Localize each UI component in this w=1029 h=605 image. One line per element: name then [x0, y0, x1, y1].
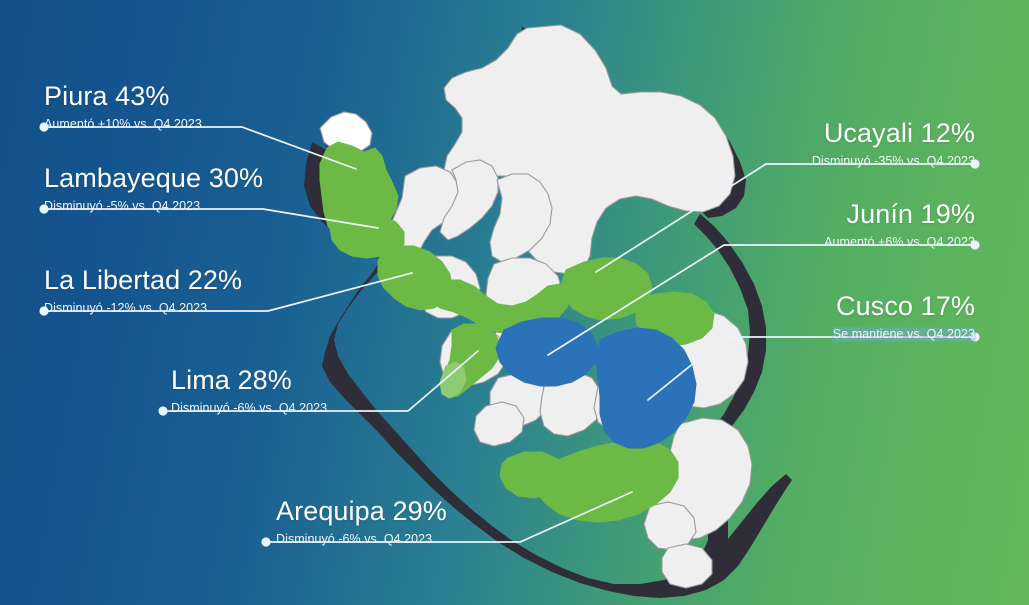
callout-junin-title: Junín 19% — [824, 200, 975, 229]
callout-arequipa-subtitle: Disminuyó -6% vs. Q4 2023 — [276, 533, 447, 547]
callout-lambayeque-title: Lambayeque 30% — [44, 164, 263, 193]
callout-cusco-subtitle: Se mantiene vs. Q4 2023 — [833, 328, 975, 342]
callout-lima-subtitle: Disminuyó -6% vs. Q4 2023 — [171, 402, 327, 416]
callout-ucayali[interactable]: Ucayali 12% Disminuyó -35% vs. Q4 2023 — [812, 119, 975, 168]
callout-la-libertad[interactable]: La Libertad 22% Disminuyó -12% vs. Q4 20… — [44, 266, 242, 315]
callout-lambayeque-subtitle: Disminuyó -5% vs. Q4 2023 — [44, 200, 263, 214]
callout-lima[interactable]: Lima 28% Disminuyó -6% vs. Q4 2023 — [171, 366, 327, 415]
callout-arequipa[interactable]: Arequipa 29% Disminuyó -6% vs. Q4 2023 — [276, 497, 447, 546]
connector-cusco — [648, 332, 980, 400]
infographic-stage: Piura 43% Aumentó +10% vs. Q4 2023 Lamba… — [0, 0, 1029, 605]
callout-piura-title: Piura 43% — [44, 82, 202, 111]
callout-piura-subtitle: Aumentó +10% vs. Q4 2023 — [44, 118, 202, 132]
callout-arequipa-title: Arequipa 29% — [276, 497, 447, 526]
callout-lambayeque[interactable]: Lambayeque 30% Disminuyó -5% vs. Q4 2023 — [44, 164, 263, 213]
callout-ucayali-title: Ucayali 12% — [812, 119, 975, 148]
callout-junin-subtitle: Aumentó +6% vs. Q4 2023 — [824, 236, 975, 250]
callout-piura[interactable]: Piura 43% Aumentó +10% vs. Q4 2023 — [44, 82, 202, 131]
callout-cusco-title: Cusco 17% — [833, 292, 975, 321]
callout-la-libertad-subtitle: Disminuyó -12% vs. Q4 2023 — [44, 302, 242, 316]
callout-ucayali-subtitle: Disminuyó -35% vs. Q4 2023 — [812, 155, 975, 169]
callout-lima-title: Lima 28% — [171, 366, 327, 395]
callout-junin[interactable]: Junín 19% Aumentó +6% vs. Q4 2023 — [824, 200, 975, 249]
callout-la-libertad-title: La Libertad 22% — [44, 266, 242, 295]
callout-cusco[interactable]: Cusco 17% Se mantiene vs. Q4 2023 — [833, 292, 975, 341]
